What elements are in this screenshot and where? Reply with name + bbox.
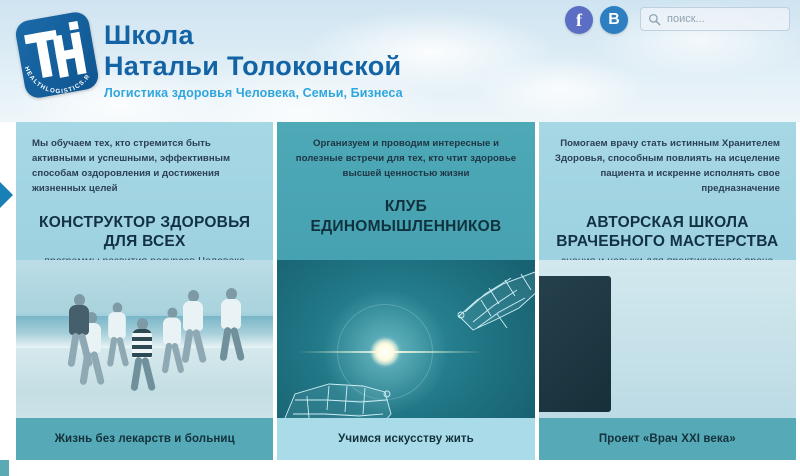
- card-title-line-2: ЕДИНОМЫШЛЕННИКОВ: [293, 217, 518, 237]
- card-title-line-1: АВТОРСКАЯ ШКОЛА: [555, 213, 780, 233]
- card-lede: Мы обучаем тех, кто стремится быть актив…: [32, 136, 257, 197]
- left-gutter: [0, 122, 16, 460]
- wireframe-hand-top-icon: [407, 260, 535, 360]
- promo-card-konstruktor-zdorovya[interactable]: Мы обучаем тех, кто стремится быть актив…: [16, 122, 273, 460]
- promo-card-klub-edinomyshlennikov[interactable]: Организуем и проводим интересные и полез…: [277, 122, 534, 460]
- card-head: Организуем и проводим интересные и полез…: [277, 122, 534, 260]
- card-title-line-2: ДЛЯ ВСЕХ: [32, 232, 257, 252]
- card-title-line-1: КЛУБ: [293, 197, 518, 217]
- promo-card-avtorskaya-shkola[interactable]: Помогаем врачу стать истинным Хранителем…: [539, 122, 796, 460]
- card-title-line-2: ВРАЧЕБНОГО МАСТЕРСТВА: [555, 232, 780, 252]
- card-lede: Помогаем врачу стать истинным Хранителем…: [555, 136, 780, 197]
- promo-cards-strip: Мы обучаем тех, кто стремится быть актив…: [0, 122, 800, 460]
- site-header: HEALTHLOGISTICS.RU Школа Натальи Толокон…: [0, 0, 800, 122]
- prev-slide-arrow-icon[interactable]: [0, 182, 13, 208]
- monitor-shape: [539, 276, 611, 412]
- site-logo[interactable]: HEALTHLOGISTICS.RU: [14, 12, 100, 100]
- caption-uchimsya-iskusstvu-zhit[interactable]: Учимся искусству жить: [277, 418, 534, 460]
- card-head: Мы обучаем тех, кто стремится быть актив…: [16, 122, 273, 260]
- brand-tagline: Логистика здоровья Человека, Семьи, Бизн…: [104, 87, 403, 100]
- footer-spacer: [0, 460, 800, 476]
- caption-gutter-right: [796, 418, 800, 460]
- logo-arc-text-icon: HEALTHLOGISTICS.RU: [16, 14, 100, 100]
- vk-icon[interactable]: B: [600, 6, 628, 34]
- brand-line-2: Натальи Толоконской: [104, 53, 403, 80]
- caption-proekt-vrach-xxi-veka[interactable]: Проект «Врач XXI века»: [539, 418, 796, 460]
- footer-side-tab: [0, 460, 9, 476]
- logo-arc-label: HEALTHLOGISTICS.RU: [13, 9, 92, 95]
- svg-text:HEALTHLOGISTICS.RU: HEALTHLOGISTICS.RU: [13, 9, 92, 95]
- search-box[interactable]: [640, 7, 790, 31]
- card-lede: Организуем и проводим интересные и полез…: [293, 136, 518, 181]
- caption-zhizn-bez-lekarstv[interactable]: Жизнь без лекарств и больниц: [16, 418, 273, 460]
- social-links: f B: [565, 6, 628, 34]
- card-title-line-1: КОНСТРУКТОР ЗДОРОВЬЯ: [32, 213, 257, 233]
- card-head: Помогаем врачу стать истинным Хранителем…: [539, 122, 796, 260]
- search-icon: [648, 13, 661, 26]
- page-root: HEALTHLOGISTICS.RU Школа Натальи Толокон…: [0, 0, 800, 476]
- brand-wordmark[interactable]: Школа Натальи Толоконской Логистика здор…: [104, 22, 403, 100]
- right-gutter: [796, 122, 800, 460]
- card-captions-bar: Жизнь без лекарств и больниц Учимся иску…: [0, 418, 800, 460]
- caption-gutter-left: [0, 418, 16, 460]
- brand-line-1: Школа: [104, 22, 403, 49]
- search-input[interactable]: [667, 13, 800, 25]
- facebook-icon[interactable]: f: [565, 6, 593, 34]
